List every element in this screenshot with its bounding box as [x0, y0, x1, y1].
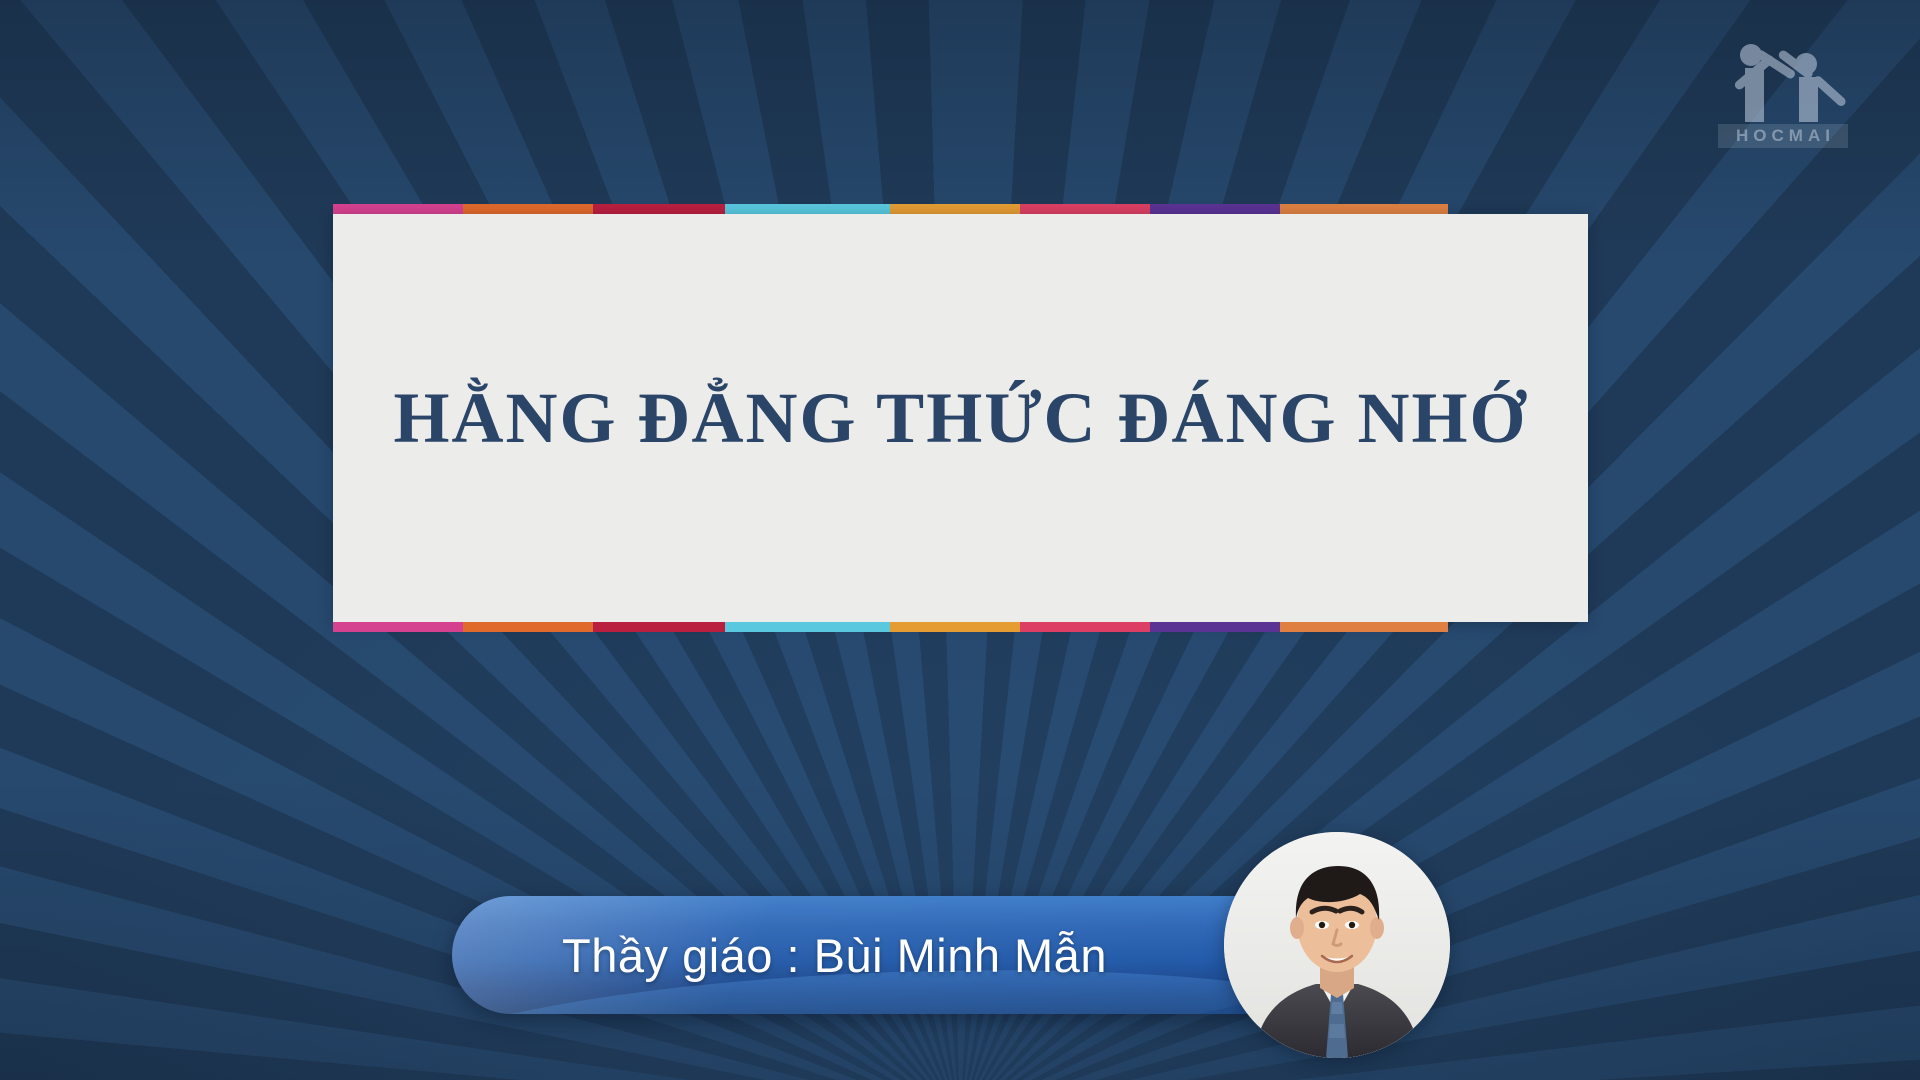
stripe-bar-bottom: [333, 622, 1588, 632]
stripe-segment: [1020, 622, 1150, 632]
stripe-segment: [463, 622, 593, 632]
stripe-segment: [725, 622, 890, 632]
hocmai-wordmark: HOCMAI: [1718, 124, 1848, 148]
presenter-name: Thầy giáo : Bùi Minh Mẫn: [452, 896, 1257, 1014]
stripe-segment: [1280, 622, 1448, 632]
stripe-segment: [333, 622, 463, 632]
stripe-segment: [593, 622, 725, 632]
stripe-segment: [1150, 204, 1280, 214]
stripe-segment: [593, 204, 725, 214]
title-card: HẰNG ĐẲNG THỨC ĐÁNG NHỚ: [333, 204, 1588, 632]
stripe-segment: [1150, 622, 1280, 632]
presenter-banner: Thầy giáo : Bùi Minh Mẫn: [452, 896, 1257, 1014]
stripe-segment: [890, 204, 1020, 214]
stripe-segment: [333, 204, 463, 214]
stripe-segment: [725, 204, 890, 214]
slide-root: HOCMAI HẰNG ĐẲNG THỨC ĐÁNG NHỚ Thầy giáo…: [0, 0, 1920, 1080]
page-title: HẰNG ĐẲNG THỨC ĐÁNG NHỚ: [333, 214, 1588, 622]
stripe-segment: [890, 622, 1020, 632]
hocmai-two-figures-icon: [1718, 38, 1848, 124]
stripe-segment: [463, 204, 593, 214]
hocmai-logo: HOCMAI: [1718, 38, 1848, 148]
presenter-portrait-photo: [1224, 832, 1450, 1058]
avatar: [1224, 832, 1450, 1058]
stripe-bar-top: [333, 204, 1588, 214]
stripe-segment: [1020, 204, 1150, 214]
stripe-segment: [1280, 204, 1448, 214]
